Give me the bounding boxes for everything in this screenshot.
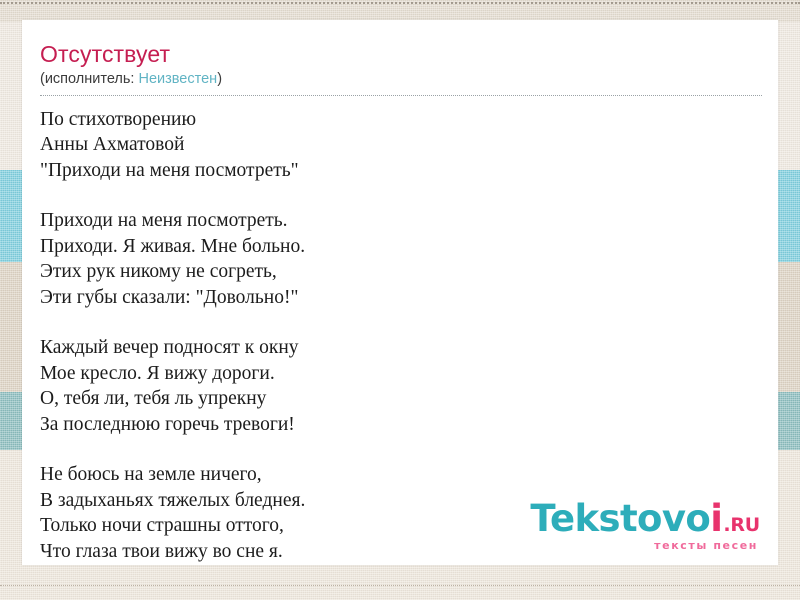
artist-line: (исполнитель: Неизвестен) <box>40 70 762 95</box>
lyrics-line: Эти губы сказали: "Довольно!" <box>40 285 762 311</box>
lyrics-line: Анны Ахматовой <box>40 132 762 158</box>
bottom-dashed-rule <box>0 585 800 586</box>
lyrics-content-card: Отсутствует (исполнитель: Неизвестен) По… <box>22 20 778 565</box>
lyrics-line: Каждый вечер подносят к окну <box>40 335 762 361</box>
logo-wordmark: Tekstovoi <box>530 500 722 537</box>
logo-tagline: тексты песен <box>530 540 758 551</box>
artist-prefix-label: (исполнитель: <box>40 71 138 87</box>
logo-tld: .RU <box>723 516 760 535</box>
song-title: Отсутствует <box>40 42 762 68</box>
lyrics-line: Мое кресло. Я вижу дороги. <box>40 361 762 387</box>
logo-wordmark-main: Tekstovo <box>530 497 710 540</box>
lyrics-line: Этих рук никому не согреть, <box>40 259 762 285</box>
artist-suffix-label: ) <box>217 71 222 87</box>
lyrics-line: За последнюю горечь тревоги! <box>40 412 762 438</box>
top-dashed-rule <box>0 2 800 4</box>
lyrics-line: По стихотворению <box>40 107 762 133</box>
lyrics-line: Приходи на меня посмотреть. <box>40 208 762 234</box>
lyrics-text: По стихотворениюАнны Ахматовой"Приходи н… <box>22 96 778 565</box>
lyrics-stanza: Каждый вечер подносят к окнуМое кресло. … <box>40 335 762 437</box>
lyrics-line: "Приходи на меня посмотреть" <box>40 158 762 184</box>
lyrics-line: Приходи. Я живая. Мне больно. <box>40 234 762 260</box>
lyrics-line: Не боюсь на земле ничего, <box>40 462 762 488</box>
logo-wordmark-i: i <box>710 497 722 540</box>
artist-link[interactable]: Неизвестен <box>138 71 217 87</box>
lyrics-stanza: По стихотворениюАнны Ахматовой"Приходи н… <box>40 107 762 184</box>
lyrics-stanza: Приходи на меня посмотреть.Приходи. Я жи… <box>40 208 762 310</box>
logo-row: Tekstovoi .RU <box>530 500 760 537</box>
song-header: Отсутствует (исполнитель: Неизвестен) <box>22 20 778 95</box>
site-logo[interactable]: Tekstovoi .RU тексты песен <box>530 500 760 551</box>
lyrics-line: О, тебя ли, тебя ль упрекну <box>40 386 762 412</box>
